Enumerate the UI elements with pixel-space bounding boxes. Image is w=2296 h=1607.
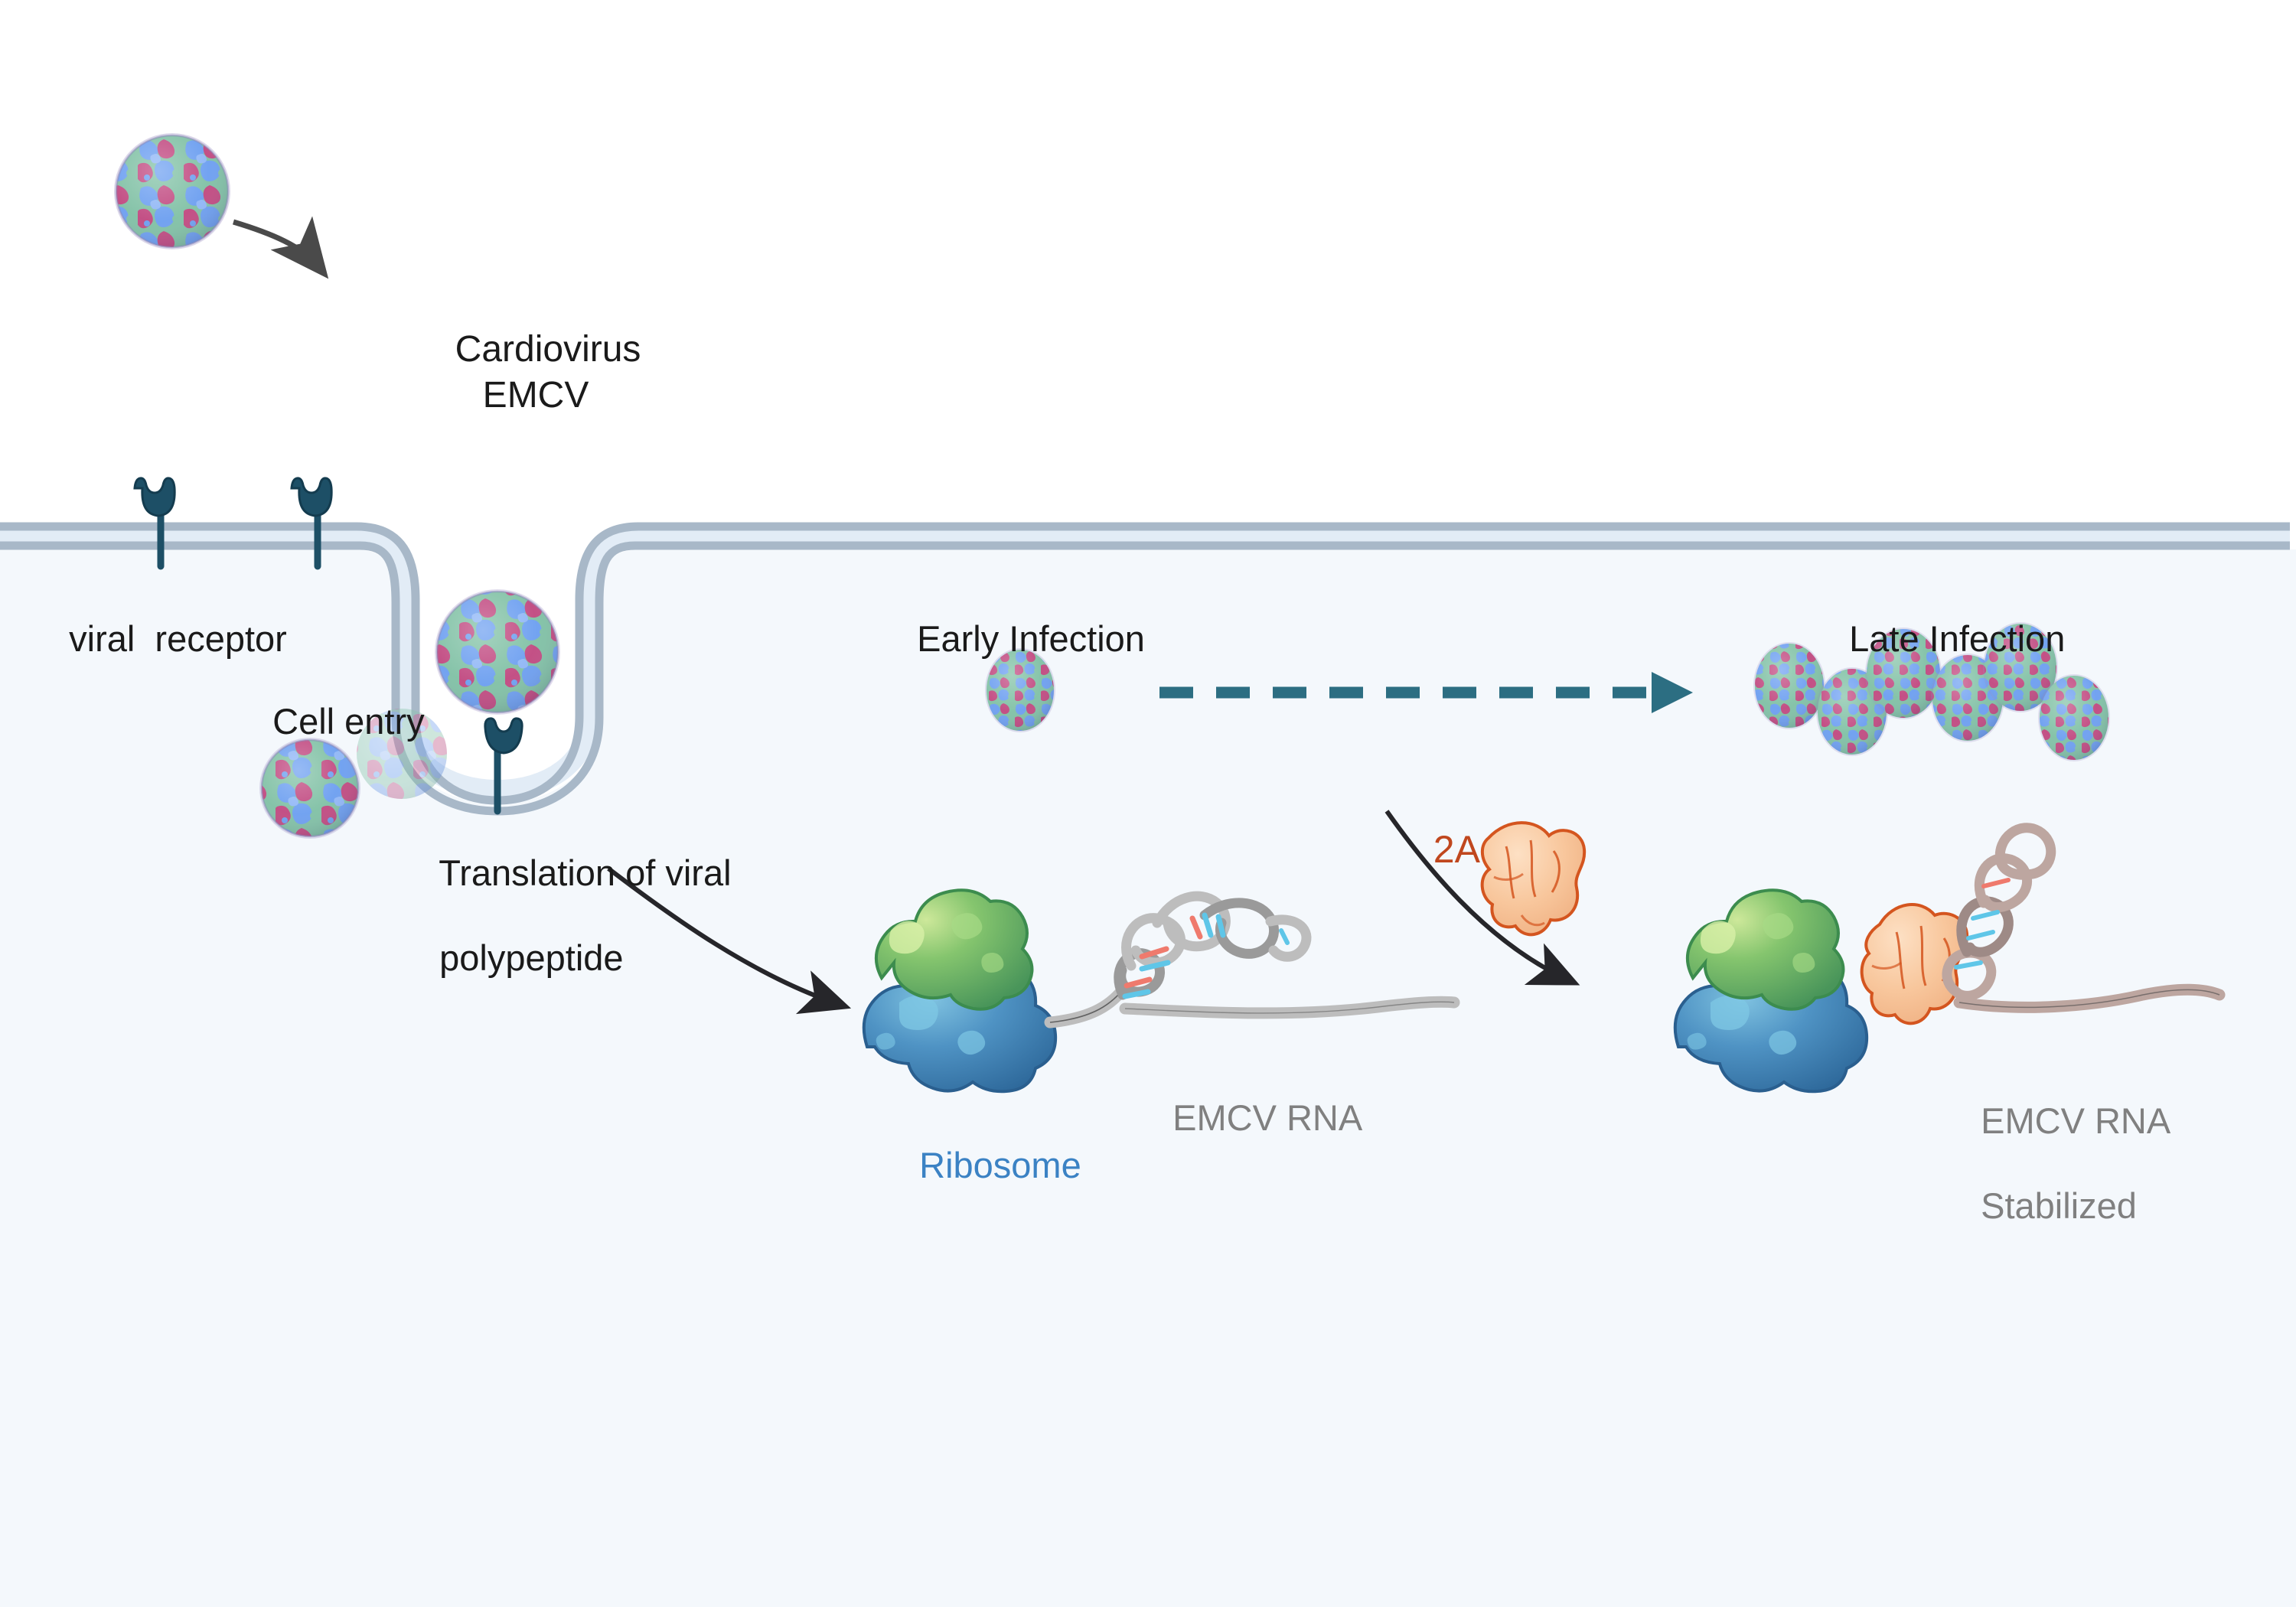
virion-uncoating-solid [259,738,360,839]
label-early-infection: Early Infection [897,575,1145,660]
label-translation-line1: Translation of viral [439,852,731,893]
entry-arrow [233,222,318,266]
label-translation-line2: polypeptide [439,937,623,978]
label-ribosome-text: Ribosome [919,1145,1081,1185]
diagram-canvas: Cardiovirus EMCV viral receptor Cell ent… [0,0,2296,1607]
virion-early-infection [985,648,1055,732]
virion-in-pit [435,589,560,715]
label-ribosome: Ribosome [899,1102,1081,1187]
label-protein-2a-text: 2A [1433,828,1480,871]
label-late-infection: Late Infection [1829,575,2065,660]
virion-free [114,133,230,249]
label-cell-entry-text: Cell entry [272,701,425,742]
label-emcv-rna-text: EMCV RNA [1172,1097,1362,1138]
infection-diagram-svg [0,0,2296,1607]
label-viral-receptor-text: viral receptor [69,618,287,659]
label-emcv-rna: EMCV RNA [1153,1054,1362,1139]
label-late-infection-text: Late Infection [1849,618,2065,659]
label-translation: Translation of viral polypeptide [419,810,732,980]
label-cell-entry: Cell entry [253,658,425,743]
label-viral-receptor: viral receptor [49,575,287,660]
label-emcv: EMCV [462,331,589,417]
label-emcv-text: EMCV [483,375,589,416]
label-emcv-rna-stabilized: EMCV RNA Stabilized [1961,1058,2170,1227]
label-emcv-rna-stabilized-line2: Stabilized [1981,1185,2137,1226]
label-emcv-rna-stabilized-line1: EMCV RNA [1981,1100,2170,1141]
label-protein-2a: 2A [1412,782,1480,872]
label-early-infection-text: Early Infection [917,618,1145,659]
